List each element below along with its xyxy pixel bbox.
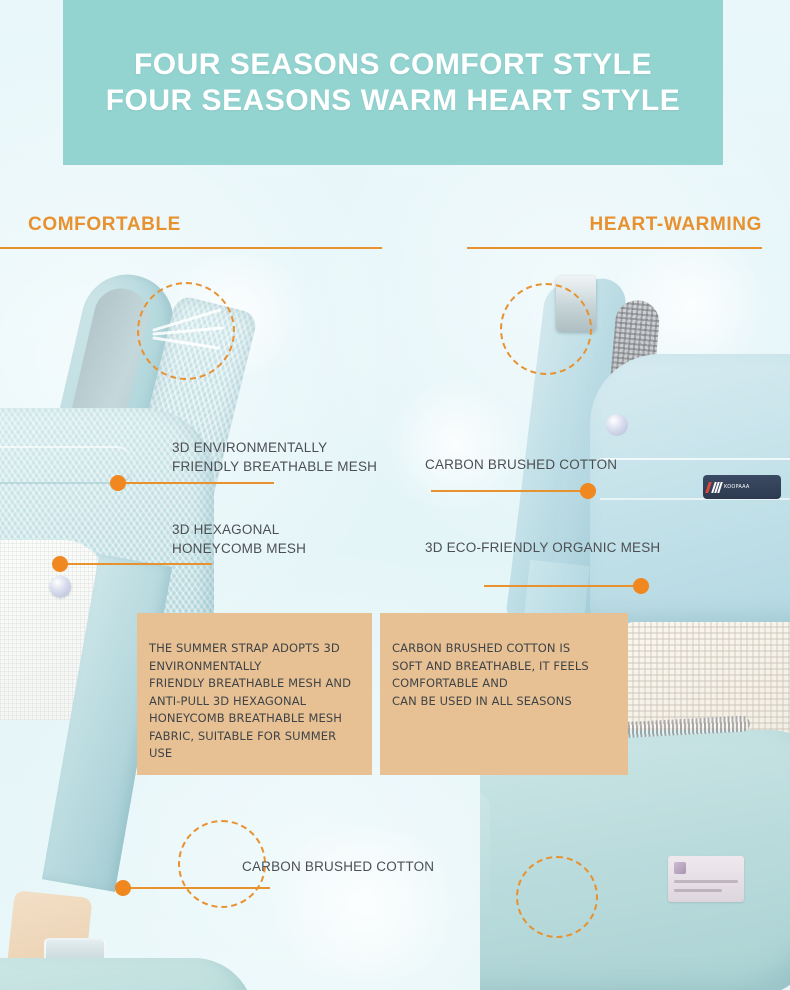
callout-label-carbon-brushed-cotton-right: CARBON BRUSHED COTTON xyxy=(425,455,705,474)
carrier-snap-button xyxy=(606,414,628,436)
brand-tag-logo-icon xyxy=(674,862,686,874)
description-box-carbon-brushed-cotton: CARBON BRUSHED COTTON IS SOFT AND BREATH… xyxy=(380,613,628,775)
highlight-circle-clip xyxy=(500,283,592,375)
callout-leader-line-4 xyxy=(484,585,640,587)
callout-leader-line-5 xyxy=(124,887,270,889)
section-underline-left xyxy=(0,247,382,249)
callout-label-3d-hexagonal-honeycomb-mesh: 3D HEXAGONAL HONEYCOMB MESH xyxy=(172,520,422,558)
highlight-circle-mesh-strap xyxy=(137,282,235,380)
callout-label-carbon-brushed-cotton-bottom: CARBON BRUSHED COTTON xyxy=(242,857,502,876)
callout-dot-3 xyxy=(580,483,596,499)
carrier-snap-button xyxy=(50,576,71,597)
carrier-brand-patch: KOOPAAA xyxy=(703,475,781,499)
callout-dot-2 xyxy=(52,556,68,572)
section-title-right: HEART-WARMING xyxy=(420,214,762,236)
banner-title-line-1: FOUR SEASONS COMFORT STYLE xyxy=(134,47,652,83)
callout-label-3d-eco-friendly-organic-mesh: 3D ECO-FRIENDLY ORGANIC MESH xyxy=(425,538,725,557)
callout-dot-4 xyxy=(633,578,649,594)
carrier-brand-tag xyxy=(668,856,744,902)
callout-dot-1 xyxy=(110,475,126,491)
section-heading-comfortable: COMFORTABLE xyxy=(28,214,382,249)
callout-leader-line-2 xyxy=(60,563,212,565)
banner-title-line-2: FOUR SEASONS WARM HEART STYLE xyxy=(106,83,681,119)
section-title-left: COMFORTABLE xyxy=(28,214,382,236)
section-underline-right xyxy=(467,247,762,249)
description-box-summer-strap: THE SUMMER STRAP ADOPTS 3D ENVIRONMENTAL… xyxy=(137,613,372,775)
header-banner: FOUR SEASONS COMFORT STYLE FOUR SEASONS … xyxy=(63,0,723,165)
callout-label-3d-environmentally-friendly-breathable-mesh: 3D ENVIRONMENTALLY FRIENDLY BREATHABLE M… xyxy=(172,438,422,476)
brand-tag-line xyxy=(674,889,722,892)
section-heading-heart-warming: HEART-WARMING xyxy=(420,214,762,249)
callout-leader-line-1 xyxy=(118,482,274,484)
carrier-waist-seat xyxy=(0,958,254,990)
brand-patch-text: KOOPAAA xyxy=(724,484,750,490)
callout-leader-line-3 xyxy=(431,490,587,492)
brand-stripe-icon xyxy=(711,482,723,493)
callout-dot-5 xyxy=(115,880,131,896)
brand-tag-line xyxy=(674,880,738,883)
highlight-circle-waist-pleat xyxy=(516,856,598,938)
infographic-page: FOUR SEASONS COMFORT STYLE FOUR SEASONS … xyxy=(0,0,790,990)
